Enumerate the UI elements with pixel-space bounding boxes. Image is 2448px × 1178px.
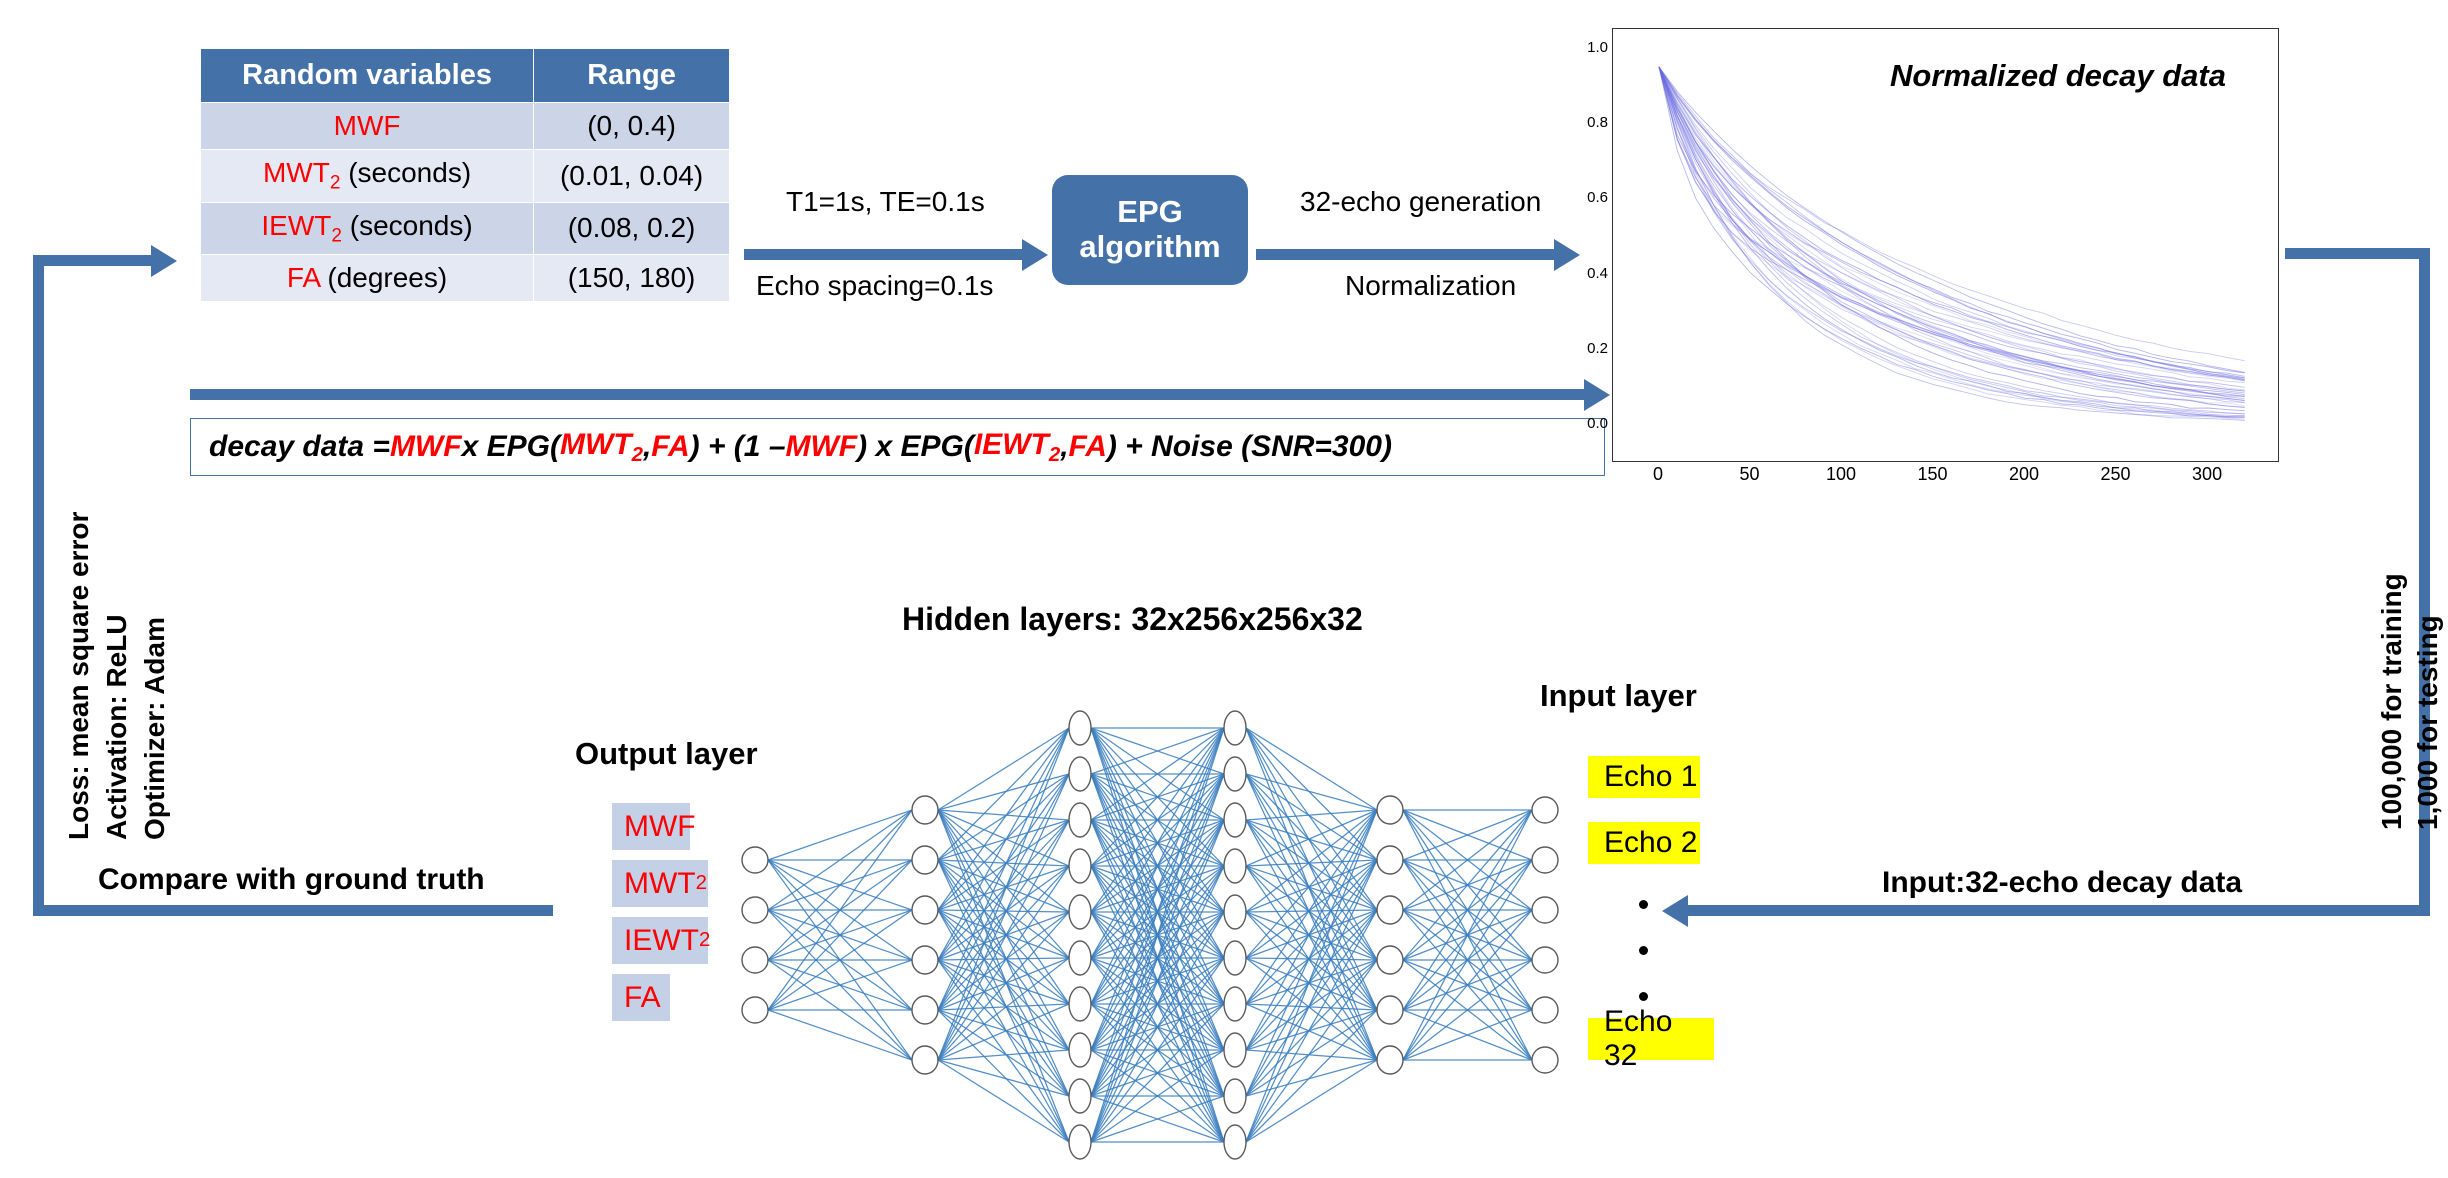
network-edge bbox=[1246, 728, 1377, 1010]
network-edge bbox=[1246, 912, 1377, 1010]
network-edge bbox=[938, 728, 1069, 1010]
input-echo-label: Echo 2 bbox=[1588, 822, 1700, 864]
network-edge bbox=[938, 820, 1069, 1060]
network-node bbox=[1069, 1033, 1091, 1067]
network-edge bbox=[1246, 774, 1377, 810]
network-node bbox=[1069, 757, 1091, 791]
network-edge bbox=[1246, 910, 1377, 912]
network-node bbox=[1377, 896, 1403, 924]
network-node bbox=[1224, 1079, 1246, 1113]
network-node bbox=[1377, 846, 1403, 874]
network-edge bbox=[938, 910, 1069, 912]
network-node bbox=[912, 846, 938, 874]
network-node bbox=[1069, 849, 1091, 883]
output-chip: FA bbox=[612, 974, 670, 1021]
network-node bbox=[1224, 803, 1246, 837]
network-edge bbox=[1246, 820, 1377, 1060]
network-node bbox=[1532, 847, 1558, 873]
network-node bbox=[912, 796, 938, 824]
network-node bbox=[1532, 1047, 1558, 1073]
network-edge bbox=[938, 728, 1069, 960]
network-edge bbox=[938, 860, 1069, 958]
network-edge bbox=[1246, 910, 1377, 1004]
network-edge bbox=[768, 1010, 912, 1060]
ellipsis-dot-2 bbox=[1639, 946, 1648, 955]
network-node bbox=[1069, 711, 1091, 745]
network-edge bbox=[768, 810, 912, 860]
network-node bbox=[1224, 987, 1246, 1021]
network-node bbox=[1224, 757, 1246, 791]
network-edge bbox=[938, 910, 1069, 1142]
network-edge bbox=[938, 1060, 1069, 1096]
network-node bbox=[1224, 895, 1246, 929]
network-node bbox=[1224, 1033, 1246, 1067]
output-chip: MWT2 bbox=[612, 860, 708, 907]
network-edge bbox=[938, 810, 1069, 1050]
network-edge bbox=[1246, 728, 1377, 960]
network-edge bbox=[1246, 958, 1377, 960]
network-node bbox=[1069, 1079, 1091, 1113]
neural-network-diagram bbox=[0, 0, 2448, 1178]
network-node bbox=[912, 996, 938, 1024]
network-edge bbox=[1246, 910, 1377, 1142]
network-node bbox=[1532, 797, 1558, 823]
network-edge bbox=[768, 810, 912, 960]
network-edge bbox=[938, 866, 1069, 960]
network-edge bbox=[1246, 810, 1377, 1050]
network-node bbox=[912, 1046, 938, 1074]
network-node bbox=[742, 897, 768, 923]
network-node bbox=[1069, 941, 1091, 975]
network-node bbox=[1532, 897, 1558, 923]
input-echo-label: Echo 1 bbox=[1588, 756, 1700, 798]
network-node bbox=[1377, 1046, 1403, 1074]
network-node bbox=[1069, 895, 1091, 929]
network-node bbox=[1069, 987, 1091, 1021]
network-node bbox=[1224, 1125, 1246, 1159]
network-node bbox=[1224, 711, 1246, 745]
network-node bbox=[1224, 849, 1246, 883]
network-node bbox=[1224, 941, 1246, 975]
output-chip: MWF bbox=[612, 803, 690, 850]
network-node bbox=[912, 896, 938, 924]
network-node bbox=[1377, 796, 1403, 824]
network-edge bbox=[938, 958, 1069, 960]
input-echo-label: Echo 32 bbox=[1588, 1018, 1714, 1060]
network-node bbox=[1377, 946, 1403, 974]
network-node bbox=[742, 947, 768, 973]
network-edge bbox=[1246, 860, 1377, 1142]
network-node bbox=[912, 946, 938, 974]
network-node bbox=[742, 847, 768, 873]
ellipsis-dot-1 bbox=[1639, 900, 1648, 909]
network-node bbox=[742, 997, 768, 1023]
network-node bbox=[1069, 1125, 1091, 1159]
network-node bbox=[1377, 996, 1403, 1024]
network-edge bbox=[938, 860, 1069, 1142]
network-edge bbox=[938, 912, 1069, 1010]
network-edge bbox=[1246, 860, 1377, 958]
network-node bbox=[1069, 803, 1091, 837]
output-chip: IEWT2 bbox=[612, 917, 708, 964]
network-node bbox=[1532, 997, 1558, 1023]
ellipsis-dot-3 bbox=[1639, 992, 1648, 1001]
network-node bbox=[1532, 947, 1558, 973]
